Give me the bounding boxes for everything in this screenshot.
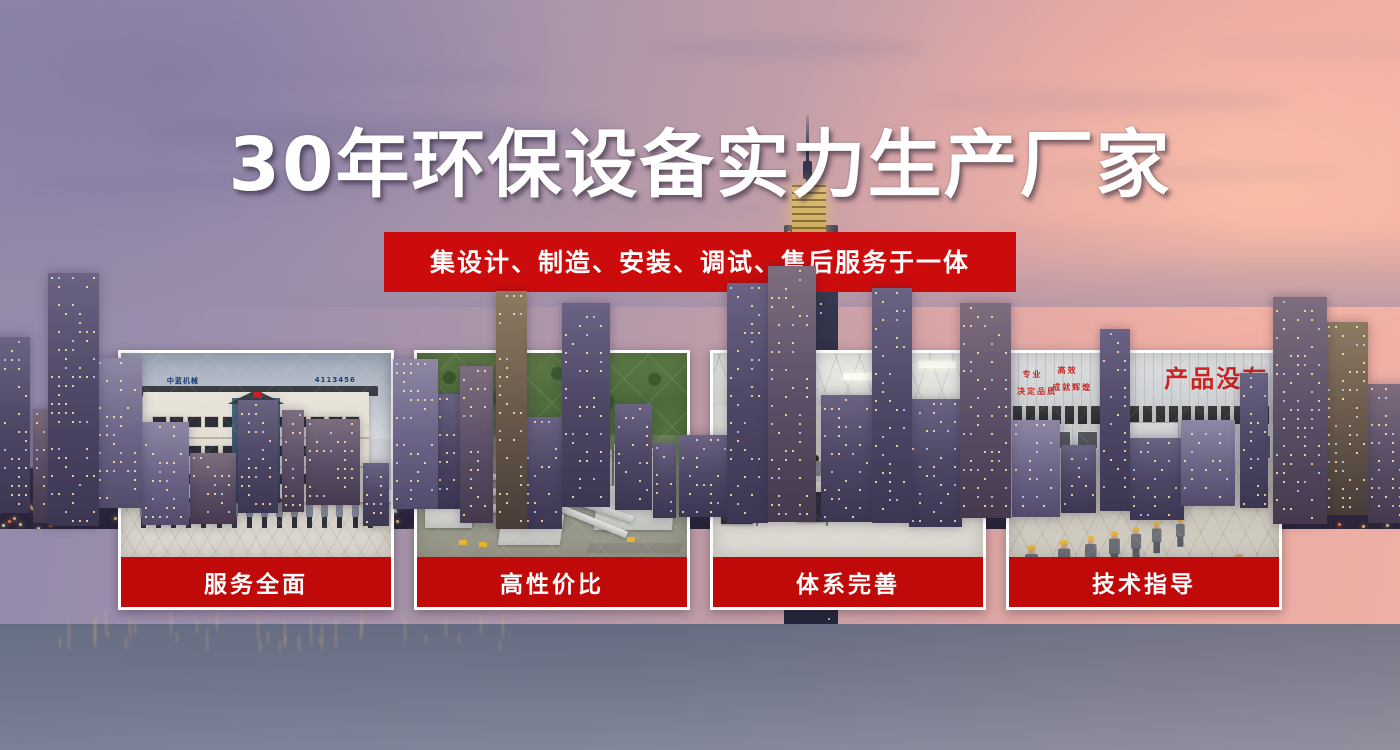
skyline-building <box>306 419 360 505</box>
skyline-building <box>872 288 912 523</box>
subtitle-container: 集设计、制造、安装、调试、售后服务于一体 <box>0 232 1400 292</box>
skyline-building <box>496 291 527 529</box>
skyline-building <box>1240 373 1268 508</box>
skyline-building <box>142 422 189 525</box>
skyline-building <box>821 395 872 522</box>
skyline-building <box>524 417 562 529</box>
water-reflections <box>0 600 1400 750</box>
card-caption-training: 技术指导 <box>1009 557 1279 607</box>
skyline-building <box>653 443 676 518</box>
cloud-streak <box>1204 38 1400 54</box>
page-title: 30年环保设备实力生产厂家 <box>0 128 1400 202</box>
factory-wall-slogan-3: 高效 <box>1058 365 1078 376</box>
skyline-building <box>1012 420 1060 517</box>
skyline-building <box>1130 438 1184 520</box>
card-caption-value: 高性价比 <box>417 557 687 607</box>
skyline-building <box>1368 384 1400 523</box>
building-sign-text: 中蓝机械 <box>167 376 199 386</box>
subtitle-banner: 集设计、制造、安装、调试、售后服务于一体 <box>384 232 1016 292</box>
skyline-building <box>1273 297 1327 524</box>
skyline-building <box>363 463 389 526</box>
skyline-building <box>1061 445 1096 513</box>
skyline-building <box>768 266 816 522</box>
cloud-streak <box>644 38 924 58</box>
skyline-building <box>727 283 768 523</box>
skyline-building <box>1325 322 1368 515</box>
skyline-building <box>238 400 278 513</box>
skyline-building <box>1181 420 1235 506</box>
building-phone-text: 4113456 <box>315 376 356 384</box>
skyline-building <box>48 273 99 526</box>
skyline-building <box>615 404 652 510</box>
skyline-building <box>562 303 610 507</box>
card-caption-system: 体系完善 <box>713 557 983 607</box>
factory-wall-slogan-1: 专业 <box>1023 369 1043 380</box>
skyline-building <box>909 399 962 527</box>
skyline-building <box>679 435 729 517</box>
flag-icon <box>253 392 262 398</box>
skyline-building <box>393 359 438 509</box>
skyline-building <box>0 337 30 513</box>
cloud-streak <box>924 90 1288 112</box>
card-caption-service: 服务全面 <box>121 557 391 607</box>
skyline-building <box>1100 329 1130 511</box>
banner-stage: 30年环保设备实力生产厂家 集设计、制造、安装、调试、售后服务于一体 <box>0 0 1400 750</box>
skyline-building <box>436 394 463 509</box>
skyline-building <box>960 303 1011 518</box>
cloud-streak <box>280 68 532 82</box>
skyline-building <box>190 453 236 524</box>
factory-wall-slogan-4: 成就辉煌 <box>1052 382 1092 393</box>
skyline-building <box>96 358 142 508</box>
skyline-building <box>460 366 493 523</box>
skyline-building <box>282 410 304 512</box>
